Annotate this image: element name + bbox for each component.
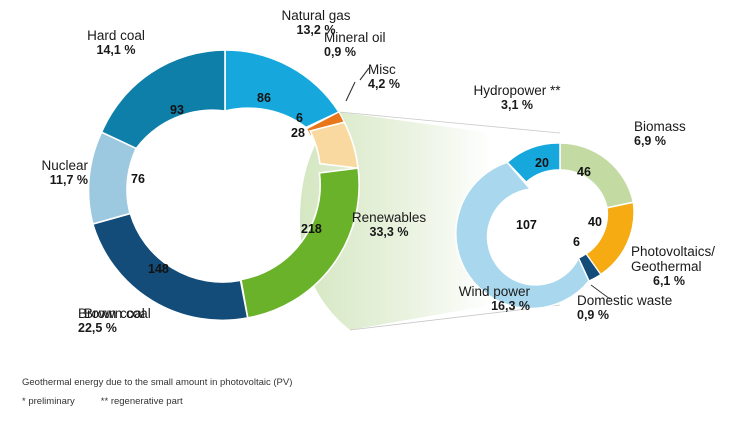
slice-hard-coal[interactable] [102, 50, 225, 148]
value-wind-power: 107 [516, 218, 537, 232]
label-brown-coal-percent: 22,5 % [78, 321, 117, 336]
label-renewables-percent: 33,3 % [334, 225, 444, 240]
label-photovoltaics-name-line2: Geothermal [631, 259, 715, 274]
value-hard-coal: 93 [170, 103, 184, 117]
label-hydropower: Hydropower ** 3,1 % [452, 83, 582, 113]
label-renewables-name: Renewables [334, 210, 444, 225]
value-nuclear: 76 [131, 172, 145, 186]
label-brown-coal: Brown coal Brown coal 22,5 % [78, 306, 117, 336]
value-domestic-waste: 6 [573, 235, 580, 249]
value-biomass: 46 [577, 165, 591, 179]
slice-biomass[interactable] [560, 143, 633, 208]
label-domestic-waste-percent: 0,9 % [577, 308, 672, 323]
label-hard-coal: Hard coal 14,1 % [58, 28, 174, 58]
leader-mineral-oil [346, 82, 355, 101]
label-biomass-name: Biomass [634, 119, 686, 134]
label-biomass: Biomass 6,9 % [634, 119, 686, 149]
label-domestic-waste: Domestic waste 0,9 % [577, 293, 672, 323]
value-photovoltaics: 40 [588, 215, 602, 229]
slice-natural-gas[interactable] [225, 50, 339, 127]
label-mineral-oil-name: Mineral oil [324, 30, 386, 45]
value-natural-gas: 86 [257, 91, 271, 105]
value-misc: 28 [291, 126, 305, 140]
label-mineral-oil-percent: 0,9 % [324, 45, 386, 60]
label-domestic-waste-name: Domestic waste [577, 293, 672, 308]
label-brown-coal-name-duplicate: Brown coal [84, 306, 151, 321]
energy-mix-chart: Hard coal 14,1 % Natural gas 13,2 % Mine… [0, 0, 740, 431]
label-wind-power-percent: 16,3 % [420, 299, 530, 314]
label-wind-power-name: Wind power [420, 284, 530, 299]
label-misc-name: Misc [368, 62, 400, 77]
label-hard-coal-percent: 14,1 % [58, 43, 174, 58]
label-hard-coal-name: Hard coal [58, 28, 174, 43]
value-renewables: 218 [301, 222, 322, 236]
label-hydropower-percent: 3,1 % [452, 98, 582, 113]
slice-brown-coal[interactable] [93, 213, 248, 320]
label-photovoltaics: Photovoltaics/ Geothermal 6,1 % [631, 244, 715, 289]
label-mineral-oil: Mineral oil 0,9 % [324, 30, 386, 60]
label-biomass-percent: 6,9 % [634, 134, 686, 149]
label-natural-gas-name: Natural gas [258, 8, 374, 23]
value-brown-coal: 148 [148, 262, 169, 276]
label-photovoltaics-name: Photovoltaics/ [631, 244, 715, 259]
label-hydropower-name: Hydropower ** [452, 83, 582, 98]
label-misc-percent: 4,2 % [368, 77, 400, 92]
label-nuclear: Nuclear 11,7 % [2, 158, 88, 188]
label-renewables: Renewables 33,3 % [334, 210, 444, 240]
footnote-line-1: Geothermal energy due to the small amoun… [22, 377, 292, 388]
label-nuclear-name: Nuclear [2, 158, 88, 173]
label-nuclear-percent: 11,7 % [2, 173, 88, 188]
label-wind-power: Wind power 16,3 % [420, 284, 530, 314]
footnote-preliminary: * preliminary [22, 396, 75, 407]
label-photovoltaics-percent: 6,1 % [631, 274, 715, 289]
value-mineral-oil: 6 [296, 111, 303, 125]
footnote-line-2: * preliminary** regenerative part [22, 396, 183, 407]
label-misc: Misc 4,2 % [368, 62, 400, 92]
value-hydropower: 20 [535, 156, 549, 170]
footnote-regenerative: ** regenerative part [101, 396, 183, 407]
